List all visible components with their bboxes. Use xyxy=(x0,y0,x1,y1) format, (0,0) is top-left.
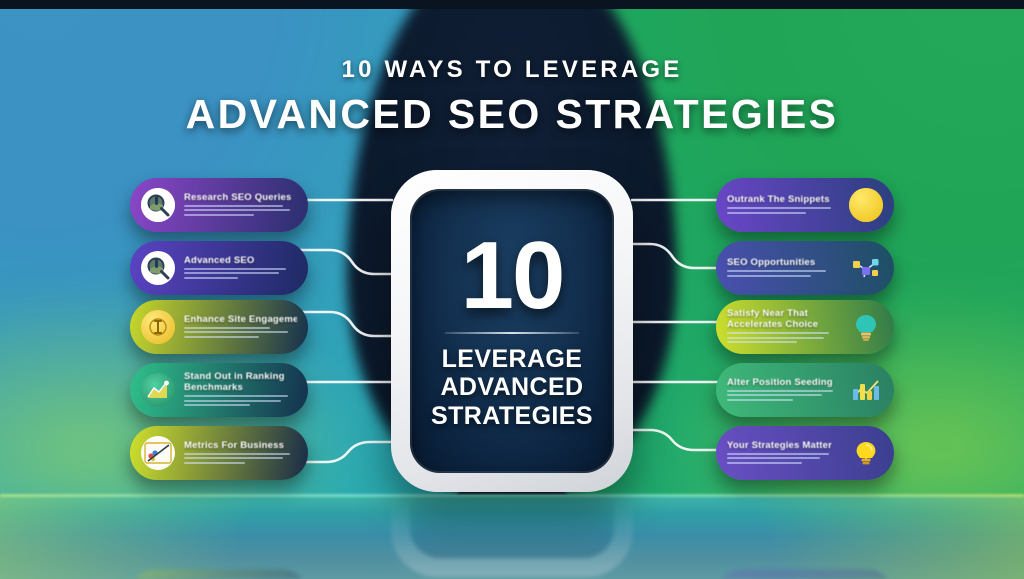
left-panel-5[interactable]: Metrics For Business xyxy=(130,426,308,480)
question-badge-icon: ? xyxy=(849,188,883,222)
right-panel-3-heading-2: Accelerates Choice xyxy=(727,319,840,330)
infographic-canvas: 10 WAYS TO LEVERAGE ADVANCED SEO STRATEG… xyxy=(0,0,1024,579)
right-panel-3-heading: Satisfy Near That xyxy=(727,308,840,319)
magnifier-icon xyxy=(141,188,175,222)
right-panel-5[interactable]: Your Strategies Matter xyxy=(716,426,894,480)
left-panel-2-heading: Advanced SEO xyxy=(184,255,297,266)
right-panel-1-body-text xyxy=(727,207,840,214)
right-panel-2-text: SEO Opportunities xyxy=(727,257,840,279)
bar-chart-icon xyxy=(849,373,883,407)
left-panel-2-body-text xyxy=(184,268,297,279)
left-panel-4-heading: Stand Out in Ranking xyxy=(184,371,297,382)
left-panel-4-text: Stand Out in RankingBenchmarks xyxy=(184,371,297,409)
left-panel-3-heading: Enhance Site Engagement xyxy=(184,314,297,325)
left-panel-2-text: Advanced SEO xyxy=(184,255,297,282)
top-dark-band xyxy=(0,0,1024,9)
left-panel-1-heading: Research SEO Queries xyxy=(184,192,297,203)
right-panel-3[interactable]: Satisfy Near ThatAccelerates Choice xyxy=(716,300,894,354)
right-panel-2-heading: SEO Opportunities xyxy=(727,257,840,268)
left-panel-4[interactable]: Stand Out in RankingBenchmarks xyxy=(130,363,308,417)
center-subtitle-line-1: LEVERAGE xyxy=(431,345,593,374)
right-panel-3-text: Satisfy Near ThatAccelerates Choice xyxy=(727,308,840,346)
left-panel-5-text: Metrics For Business xyxy=(184,440,297,467)
left-panel-4-heading-2: Benchmarks xyxy=(184,382,297,393)
right-panel-4-heading: Alter Position Seeding xyxy=(727,377,840,388)
right-panel-3-body-text xyxy=(727,332,840,343)
floor-tint-right xyxy=(664,495,1024,579)
right-panel-2-body-text xyxy=(727,270,840,277)
network-nodes-icon xyxy=(849,251,883,285)
floor-horizon-line xyxy=(0,494,1024,497)
left-panel-1[interactable]: Research SEO Queries xyxy=(130,178,308,232)
right-panel-5-heading: Your Strategies Matter xyxy=(727,440,840,451)
report-card-icon xyxy=(141,436,175,470)
right-panel-4-text: Alter Position Seeding xyxy=(727,377,840,404)
medal-icon xyxy=(141,310,175,344)
center-subtitle-line-2: ADVANCED xyxy=(431,373,593,402)
center-card-inner: 10 LEVERAGE ADVANCED STRATEGIES xyxy=(410,189,614,473)
left-panel-5-body-text xyxy=(184,453,297,464)
left-panel-3[interactable]: Enhance Site Engagement xyxy=(130,300,308,354)
lightbulb-teal-icon xyxy=(849,310,883,344)
left-panel-5-heading: Metrics For Business xyxy=(184,440,297,451)
left-panel-4-body-text xyxy=(184,395,297,406)
right-panel-5-body-text xyxy=(727,453,840,464)
right-panel-4-body-text xyxy=(727,390,840,401)
left-panel-1-text: Research SEO Queries xyxy=(184,192,297,219)
center-subtitle-line-3: STRATEGIES xyxy=(431,402,593,431)
right-panel-1-text: Outrank The Snippets xyxy=(727,194,840,216)
lightbulb-yellow-icon xyxy=(849,436,883,470)
right-panel-2[interactable]: SEO Opportunities xyxy=(716,241,894,295)
center-subtitle: LEVERAGE ADVANCED STRATEGIES xyxy=(431,345,593,431)
floor-tint-left xyxy=(0,495,340,579)
right-panel-5-text: Your Strategies Matter xyxy=(727,440,840,467)
left-panel-1-body-text xyxy=(184,205,297,216)
center-card[interactable]: 10 LEVERAGE ADVANCED STRATEGIES xyxy=(391,170,633,492)
left-panel-2[interactable]: Advanced SEO xyxy=(130,241,308,295)
left-panel-3-body-text xyxy=(184,327,297,338)
center-divider xyxy=(445,332,579,334)
growth-arrow-icon xyxy=(141,373,175,407)
right-panel-4[interactable]: Alter Position Seeding xyxy=(716,363,894,417)
center-number: 10 xyxy=(461,232,564,320)
left-panel-3-text: Enhance Site Engagement xyxy=(184,314,297,341)
right-panel-1-heading: Outrank The Snippets xyxy=(727,194,840,205)
magnifier-icon xyxy=(141,251,175,285)
right-panel-1[interactable]: Outrank The Snippets? xyxy=(716,178,894,232)
